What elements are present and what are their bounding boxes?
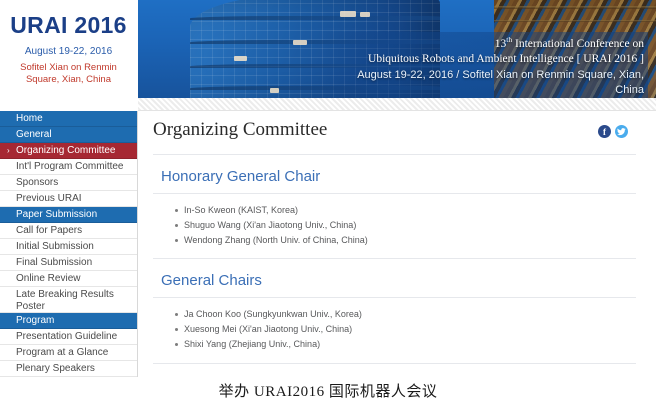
member-list: In-So Kweon (KAIST, Korea)Shuguo Wang (X… [153, 203, 648, 248]
sidebar-item-label: Call for Papers [16, 225, 82, 236]
banner-line-2: Ubiquitous Robots and Ambient Intelligen… [332, 52, 644, 68]
page-root: URAI 2016 August 19-22, 2016 Sofitel Xia… [0, 0, 656, 411]
banner-line1-rest: International Conference on [512, 38, 644, 50]
member-list-item: Shuguo Wang (Xi'an Jiaotong Univ., China… [175, 218, 648, 233]
member-list-item: In-So Kweon (KAIST, Korea) [175, 203, 648, 218]
sidebar-item-label: Late Breaking Results Poster [16, 289, 131, 312]
header-banner-image: 13th International Conference on Ubiquit… [138, 0, 656, 98]
sidebar-item-presentation-guideline[interactable]: Presentation Guideline [0, 329, 137, 345]
title-divider [153, 154, 636, 155]
sidebar-item-organizing-committee[interactable]: ›Organizing Committee [0, 143, 137, 159]
member-list: Ja Choon Koo (Sungkyunkwan Univ., Korea)… [153, 307, 648, 352]
sidebar-item-label: General [16, 129, 52, 140]
sidebar-item-label: Plenary Speakers [16, 363, 95, 374]
sidebar-item-label: Int'l Program Committee [16, 161, 124, 172]
section-heading: Honorary General Chair [161, 168, 648, 186]
sidebar-item-int-l-program-committee[interactable]: Int'l Program Committee [0, 159, 137, 175]
sidebar-item-label: Initial Submission [16, 241, 94, 252]
section-divider [153, 193, 636, 194]
sidebar-item-paper-submission[interactable]: Paper Submission [0, 207, 137, 223]
header-texture-strip [0, 98, 656, 111]
section-heading: General Chairs [161, 272, 648, 290]
sidebar-item-sponsors[interactable]: Sponsors [0, 175, 137, 191]
sidebar-item-program-at-a-glance[interactable]: Program at a Glance [0, 345, 137, 361]
member-list-item: Wendong Zhang (North Univ. of China, Chi… [175, 233, 648, 248]
twitter-icon[interactable] [615, 125, 628, 138]
banner-line-1: 13th International Conference on [332, 35, 644, 52]
tower-window-light [293, 40, 307, 45]
member-list-item: Xuesong Mei (Xi'an Jiaotong Univ., China… [175, 322, 648, 337]
tower-window-light [340, 11, 356, 17]
section-end-divider [153, 258, 636, 259]
tower-window-light [234, 56, 247, 61]
brand-venue-line2: Square, Xian, China [26, 74, 111, 85]
sidebar-item-previous-urai[interactable]: Previous URAI [0, 191, 137, 207]
chevron-right-icon: › [7, 147, 10, 155]
tower-window-light [360, 12, 370, 17]
sidebar-item-plenary-speakers[interactable]: Plenary Speakers [0, 361, 137, 377]
sidebar-item-initial-submission[interactable]: Initial Submission [0, 239, 137, 255]
brand-block[interactable]: URAI 2016 August 19-22, 2016 Sofitel Xia… [0, 0, 138, 98]
member-list-item: Ja Choon Koo (Sungkyunkwan Univ., Korea) [175, 307, 648, 322]
brand-venue: Sofitel Xian on Renmin Square, Xian, Chi… [20, 62, 117, 87]
brand-venue-line1: Sofitel Xian on Renmin [20, 62, 117, 73]
page-title-row: Organizing Committee f [153, 111, 648, 141]
sidebar-item-final-submission[interactable]: Final Submission [0, 255, 137, 271]
sidebar-item-late-breaking-results-poster[interactable]: Late Breaking Results Poster [0, 287, 137, 313]
sidebar-item-label: Sponsors [16, 177, 58, 188]
banner-ordinal-number: 13 [495, 38, 507, 50]
sidebar-item-home[interactable]: Home [0, 111, 137, 127]
committee-sections: Honorary General ChairIn-So Kweon (KAIST… [153, 168, 648, 364]
sidebar-nav: HomeGeneral›Organizing CommitteeInt'l Pr… [0, 111, 138, 377]
tower-window-light [270, 88, 279, 93]
sidebar-item-label: Previous URAI [16, 193, 82, 204]
sidebar-item-label: Home [16, 113, 43, 124]
site-header: URAI 2016 August 19-22, 2016 Sofitel Xia… [0, 0, 656, 98]
facebook-icon[interactable]: f [598, 125, 611, 138]
main-content: Organizing Committee f Honorary General … [139, 111, 656, 364]
section-end-divider [153, 363, 636, 364]
sidebar-item-program[interactable]: Program [0, 313, 137, 329]
member-list-item: Shixi Yang (Zhejiang Univ., China) [175, 337, 648, 352]
section-divider [153, 297, 636, 298]
banner-text-block: 13th International Conference on Ubiquit… [318, 32, 648, 98]
sidebar-item-label: Presentation Guideline [16, 331, 117, 342]
brand-dates: August 19-22, 2016 [25, 45, 112, 59]
banner-line-3: August 19-22, 2016 / Sofitel Xian on Ren… [332, 68, 644, 98]
sidebar-item-label: Program at a Glance [16, 347, 108, 358]
sidebar-item-label: Paper Submission [16, 209, 97, 220]
social-links: f [598, 120, 648, 138]
texture-strip-gap [0, 98, 138, 111]
figure-caption: 举办 URAI2016 国际机器人会议 [0, 380, 656, 401]
sidebar-item-label: Program [16, 315, 54, 326]
tower-band [190, 16, 440, 20]
sidebar-item-online-review[interactable]: Online Review [0, 271, 137, 287]
sidebar-item-label: Online Review [16, 273, 80, 284]
brand-title: URAI 2016 [10, 13, 126, 37]
sidebar-item-label: Organizing Committee [16, 145, 115, 156]
sidebar-item-label: Final Submission [16, 257, 92, 268]
page-title: Organizing Committee [153, 120, 327, 141]
sidebar-item-general[interactable]: General [0, 127, 137, 143]
sidebar-item-call-for-papers[interactable]: Call for Papers [0, 223, 137, 239]
